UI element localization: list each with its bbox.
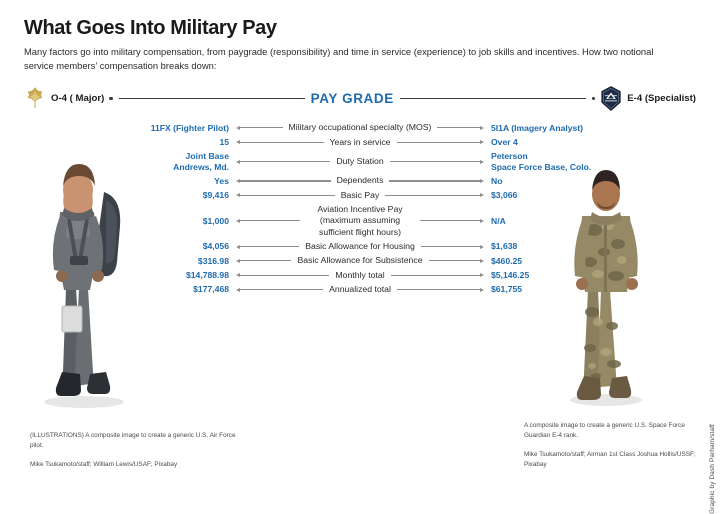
connector-right bbox=[397, 140, 485, 144]
row-connector-group: Monthly total bbox=[236, 270, 484, 281]
right-caption: A composite image to create a generic U.… bbox=[524, 421, 704, 470]
connector-bar bbox=[240, 142, 324, 143]
paygrade-center: PAY GRADE bbox=[113, 91, 593, 106]
connector-left bbox=[236, 140, 324, 144]
page-deck: Many factors go into military compensati… bbox=[24, 45, 684, 72]
comparison-row: $4,056Basic Allowance for Housing$1,638 bbox=[125, 241, 595, 252]
row-label: Duty Station bbox=[336, 156, 383, 167]
connector-bar bbox=[240, 246, 299, 247]
row-label: Annualized total bbox=[329, 284, 391, 295]
comparison-row: 15Years in serviceOver 4 bbox=[125, 137, 595, 148]
connector-left bbox=[236, 259, 291, 263]
left-caption-text: (ILLUSTRATIONS) A composite image to cre… bbox=[30, 431, 245, 451]
connector-left bbox=[236, 179, 331, 183]
connector-left bbox=[236, 160, 330, 164]
connector-bar bbox=[240, 195, 335, 196]
connector-right bbox=[390, 160, 484, 164]
comparison-row: $9,416Basic Pay$3,066 bbox=[125, 190, 595, 201]
connector-right bbox=[437, 126, 484, 130]
row-connector-group: Basic Pay bbox=[236, 190, 484, 201]
row-label: Basic Pay bbox=[341, 190, 380, 201]
connector-bar bbox=[240, 161, 330, 162]
connector-bar bbox=[385, 195, 480, 196]
left-rank-group: O-4 ( Major) bbox=[24, 86, 113, 110]
connector-right bbox=[397, 288, 484, 292]
row-connector-group: Dependents bbox=[236, 175, 484, 186]
comparison-row: $1,000Aviation Incentive Pay(maximum ass… bbox=[125, 204, 595, 238]
connector-bar bbox=[240, 289, 323, 290]
left-caption: (ILLUSTRATIONS) A composite image to cre… bbox=[30, 431, 245, 470]
paygrade-rule-right bbox=[400, 98, 586, 99]
connector-bar bbox=[420, 220, 480, 221]
row-connector-group: Basic Allowance for Housing bbox=[236, 241, 484, 252]
row-label: Aviation Incentive Pay(maximum assumings… bbox=[306, 204, 414, 238]
paygrade-rule-left bbox=[119, 98, 305, 99]
row-label: Military occupational specialty (MOS) bbox=[289, 122, 432, 133]
row-label: Basic Allowance for Subsistence bbox=[297, 255, 422, 266]
comparison-row: YesDependentsNo bbox=[125, 175, 595, 186]
connector-left bbox=[236, 193, 335, 197]
row-label: Monthly total bbox=[335, 270, 384, 281]
connector-bar bbox=[397, 142, 481, 143]
comparison-row: $316.98Basic Allowance for Subsistence$4… bbox=[125, 255, 595, 266]
air-force-pilot-illustration bbox=[26, 120, 142, 410]
connector-bar bbox=[390, 161, 480, 162]
right-rank-label: E-4 (Specialist) bbox=[627, 93, 696, 104]
page-title: What Goes Into Military Pay bbox=[24, 18, 696, 39]
connector-bar bbox=[389, 180, 480, 181]
connector-bar bbox=[391, 275, 480, 276]
paygrade-title: PAY GRADE bbox=[311, 91, 394, 106]
comparison-row: $14,788.98Monthly total$5,146.25 bbox=[125, 270, 595, 281]
graphic-credit: Graphic by Dash Parham/staff bbox=[709, 424, 716, 514]
row-label: Basic Allowance for Housing bbox=[305, 241, 415, 252]
comparison-row: Joint BaseAndrews, Md.Duty StationPeters… bbox=[125, 151, 595, 172]
left-rank-label: O-4 ( Major) bbox=[51, 93, 104, 104]
connector-bar bbox=[421, 246, 480, 247]
connector-right bbox=[421, 245, 484, 249]
oak-leaf-insignia-icon bbox=[24, 86, 46, 110]
row-label: Dependents bbox=[337, 175, 384, 186]
connector-bar bbox=[240, 180, 331, 181]
comparison-row: $177,468Annualized total$61,755 bbox=[125, 284, 595, 295]
connector-left bbox=[236, 126, 283, 130]
row-connector-group: Duty Station bbox=[236, 156, 484, 167]
connector-right bbox=[429, 259, 484, 263]
right-line-cap bbox=[592, 97, 595, 100]
right-caption-text: A composite image to create a generic U.… bbox=[524, 421, 704, 441]
comparison-table: 11FX (Fighter Pilot)Military occupationa… bbox=[125, 122, 595, 295]
connector-bar bbox=[429, 260, 480, 261]
connector-bar bbox=[397, 289, 480, 290]
connector-bar bbox=[240, 127, 283, 128]
space-force-shield-insignia-icon bbox=[600, 86, 622, 111]
right-caption-credit: Mike Tsukamoto/staff; Airman 1st Class J… bbox=[524, 450, 704, 470]
connector-left bbox=[236, 273, 329, 277]
infographic-page: What Goes Into Military Pay Many factors… bbox=[0, 0, 720, 486]
row-label: Years in service bbox=[330, 137, 391, 148]
connector-right bbox=[391, 273, 484, 277]
paygrade-header: O-4 ( Major) PAY GRADE E-4 (Specialist) bbox=[24, 81, 696, 115]
row-connector-group: Annualized total bbox=[236, 284, 484, 295]
connector-bar bbox=[240, 220, 300, 221]
connector-left bbox=[236, 219, 300, 223]
row-connector-group: Military occupational specialty (MOS) bbox=[236, 122, 484, 133]
row-connector-group: Basic Allowance for Subsistence bbox=[236, 255, 484, 266]
connector-bar bbox=[240, 275, 329, 276]
connector-left bbox=[236, 288, 323, 292]
row-connector-group: Years in service bbox=[236, 137, 484, 148]
connector-bar bbox=[437, 127, 480, 128]
left-caption-credit: Mike Tsukamoto/staff; William Lewis/USAF… bbox=[30, 460, 245, 470]
connector-right bbox=[385, 193, 484, 197]
comparison-row: 11FX (Fighter Pilot)Military occupationa… bbox=[125, 122, 595, 133]
space-force-guardian-illustration bbox=[554, 126, 658, 408]
connector-right bbox=[389, 179, 484, 183]
right-rank-group: E-4 (Specialist) bbox=[592, 86, 696, 111]
connector-bar bbox=[240, 260, 291, 261]
connector-right bbox=[420, 219, 484, 223]
connector-left bbox=[236, 245, 299, 249]
row-connector-group: Aviation Incentive Pay(maximum assumings… bbox=[236, 204, 484, 238]
